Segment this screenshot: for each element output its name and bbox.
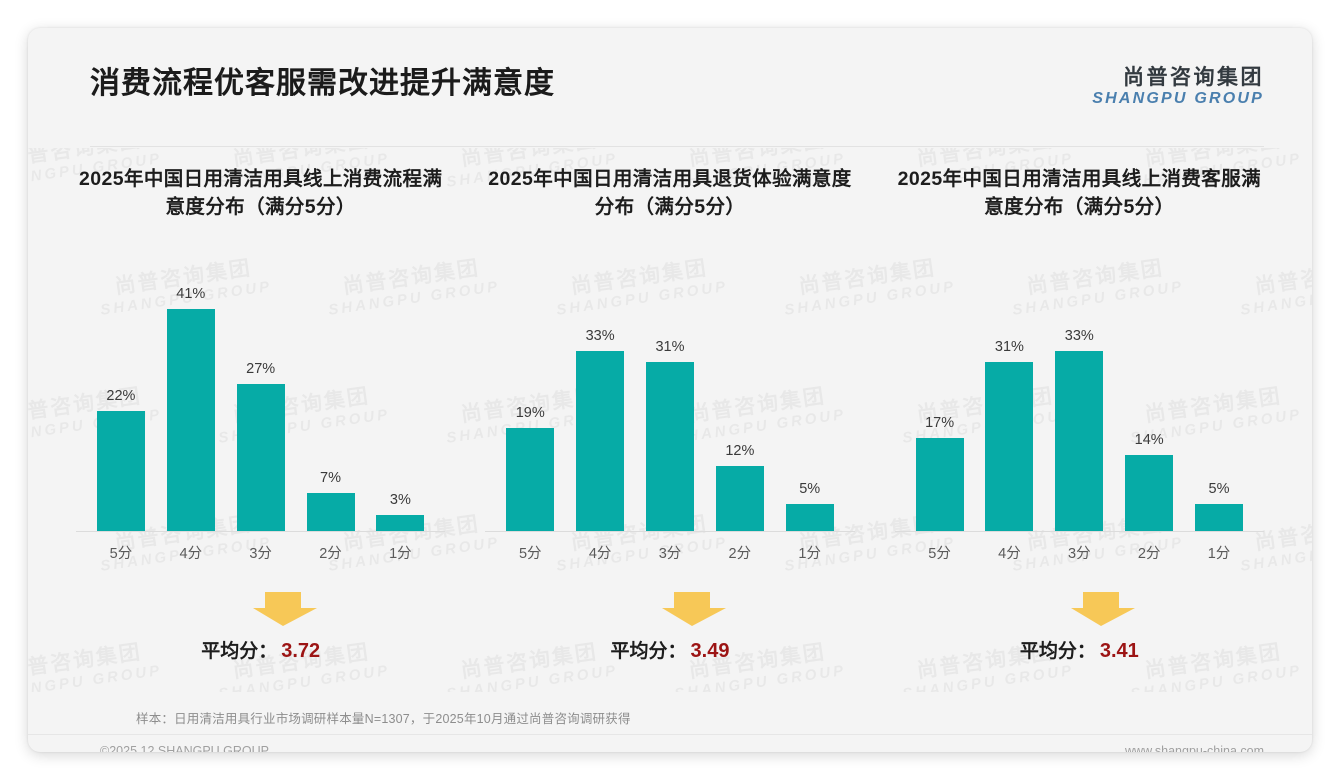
- bar-slot[interactable]: 19%: [495, 286, 565, 531]
- chart-panel: 2025年中国日用清洁用具退货体验满意度分布（满分5分）19%33%31%12%…: [465, 166, 874, 676]
- average-value: 3.72: [281, 640, 320, 663]
- bar-value-label: 14%: [1135, 432, 1164, 448]
- bar[interactable]: [916, 438, 964, 531]
- average-score-label: 平均分：3.49: [611, 636, 730, 663]
- bar-slot[interactable]: 3%: [365, 286, 435, 531]
- x-axis-labels: 5分4分3分2分1分: [495, 542, 844, 563]
- chart-plot-area: 19%33%31%12%5%5分4分3分2分1分: [477, 286, 862, 531]
- page-title: 消费流程优客服需改进提升满意度: [90, 58, 555, 102]
- average-score-block: 平均分：3.49: [465, 592, 874, 663]
- average-prefix: 平均分：: [611, 636, 687, 663]
- x-axis-tick-label: 3分: [635, 542, 705, 563]
- x-axis-tick-label: 4分: [565, 542, 635, 563]
- bar-value-label: 3%: [390, 492, 411, 508]
- chart-title: 2025年中国日用清洁用具线上消费客服满意度分布（满分5分）: [887, 166, 1272, 228]
- bar[interactable]: [576, 351, 624, 531]
- bar-value-label: 31%: [655, 339, 684, 355]
- bar-value-label: 19%: [516, 405, 545, 421]
- average-score-block: 平均分：3.72: [56, 592, 465, 663]
- bar[interactable]: [376, 515, 424, 531]
- chart-plot-area: 17%31%33%14%5%5分4分3分2分1分: [887, 286, 1272, 531]
- bar-slot[interactable]: 12%: [705, 286, 775, 531]
- average-prefix: 平均分：: [201, 636, 277, 663]
- bar-slot[interactable]: 14%: [1114, 286, 1184, 531]
- slide-card: 尚普咨询集团SHANGPU GROUP尚普咨询集团SHANGPU GROUP尚普…: [28, 28, 1312, 752]
- chart-panel: 2025年中国日用清洁用具线上消费流程满意度分布（满分5分）22%41%27%7…: [56, 166, 465, 676]
- x-axis-labels: 5分4分3分2分1分: [905, 542, 1254, 563]
- bar[interactable]: [985, 362, 1033, 531]
- bar-slot[interactable]: 33%: [1044, 286, 1114, 531]
- x-axis-tick-label: 4分: [156, 542, 226, 563]
- bar-group: 22%41%27%7%3%: [86, 286, 435, 531]
- x-axis-tick-label: 2分: [1114, 542, 1184, 563]
- down-arrow-icon: [1067, 592, 1139, 626]
- bar-value-label: 5%: [1209, 481, 1230, 497]
- bar-value-label: 31%: [995, 339, 1024, 355]
- bar-slot[interactable]: 17%: [905, 286, 975, 531]
- chart-title: 2025年中国日用清洁用具线上消费流程满意度分布（满分5分）: [68, 166, 453, 228]
- footer-website[interactable]: www.shangpu-china.com: [1125, 744, 1264, 752]
- x-axis-tick-label: 4分: [975, 542, 1045, 563]
- x-axis-line: [895, 531, 1264, 532]
- bar-group: 19%33%31%12%5%: [495, 286, 844, 531]
- bar[interactable]: [716, 466, 764, 531]
- header-divider: [90, 146, 1264, 147]
- bar-slot[interactable]: 22%: [86, 286, 156, 531]
- bar-value-label: 41%: [176, 286, 205, 302]
- bar-value-label: 12%: [725, 443, 754, 459]
- chart-panel: 2025年中国日用清洁用具线上消费客服满意度分布（满分5分）17%31%33%1…: [875, 166, 1284, 676]
- brand-logo: 尚普咨询集团 SHANGPU GROUP: [1092, 66, 1264, 107]
- average-score-label: 平均分：3.72: [201, 636, 320, 663]
- average-score-block: 平均分：3.41: [875, 592, 1284, 663]
- x-axis-tick-label: 1分: [1184, 542, 1254, 563]
- x-axis-tick-label: 5分: [905, 542, 975, 563]
- x-axis-tick-label: 5分: [495, 542, 565, 563]
- x-axis-tick-label: 1分: [775, 542, 845, 563]
- average-value: 3.41: [1100, 640, 1139, 663]
- average-prefix: 平均分：: [1020, 636, 1096, 663]
- bar-slot[interactable]: 33%: [565, 286, 635, 531]
- average-score-label: 平均分：3.41: [1020, 636, 1139, 663]
- slide-header: 消费流程优客服需改进提升满意度 尚普咨询集团 SHANGPU GROUP: [28, 28, 1312, 128]
- x-axis-tick-label: 2分: [705, 542, 775, 563]
- bar[interactable]: [1195, 504, 1243, 531]
- x-axis-tick-label: 1分: [365, 542, 435, 563]
- bar-slot[interactable]: 5%: [1184, 286, 1254, 531]
- average-value: 3.49: [691, 640, 730, 663]
- bar-value-label: 17%: [925, 415, 954, 431]
- bar-group: 17%31%33%14%5%: [905, 286, 1254, 531]
- bar[interactable]: [786, 504, 834, 531]
- bar-slot[interactable]: 7%: [296, 286, 366, 531]
- bar[interactable]: [167, 309, 215, 531]
- charts-row: 2025年中国日用清洁用具线上消费流程满意度分布（满分5分）22%41%27%7…: [56, 166, 1284, 676]
- bar[interactable]: [237, 384, 285, 531]
- footer-copyright: ©2025.12 SHANGPU GROUP: [100, 744, 269, 752]
- bar-slot[interactable]: 5%: [775, 286, 845, 531]
- logo-chinese-text: 尚普咨询集团: [1092, 66, 1264, 90]
- bar[interactable]: [506, 428, 554, 531]
- down-arrow-icon: [249, 592, 321, 626]
- bar-value-label: 5%: [799, 481, 820, 497]
- x-axis-tick-label: 3分: [226, 542, 296, 563]
- bar-slot[interactable]: 31%: [975, 286, 1045, 531]
- logo-english-text: SHANGPU GROUP: [1092, 90, 1264, 108]
- sample-footnote: 样本：日用清洁用具行业市场调研样本量N=1307，于2025年10月通过尚普咨询…: [136, 708, 631, 727]
- bar[interactable]: [1125, 455, 1173, 531]
- down-arrow-icon: [658, 592, 730, 626]
- x-axis-labels: 5分4分3分2分1分: [86, 542, 435, 563]
- bar-slot[interactable]: 41%: [156, 286, 226, 531]
- bar-value-label: 7%: [320, 470, 341, 486]
- bar[interactable]: [97, 411, 145, 531]
- x-axis-tick-label: 2分: [296, 542, 366, 563]
- bar-value-label: 22%: [106, 388, 135, 404]
- footer-divider: [28, 734, 1312, 735]
- bar-value-label: 33%: [586, 328, 615, 344]
- x-axis-line: [485, 531, 854, 532]
- bar[interactable]: [1055, 351, 1103, 531]
- chart-title: 2025年中国日用清洁用具退货体验满意度分布（满分5分）: [477, 166, 862, 228]
- bar[interactable]: [646, 362, 694, 531]
- chart-plot-area: 22%41%27%7%3%5分4分3分2分1分: [68, 286, 453, 531]
- x-axis-tick-label: 5分: [86, 542, 156, 563]
- x-axis-tick-label: 3分: [1044, 542, 1114, 563]
- bar-value-label: 27%: [246, 361, 275, 377]
- bar-slot[interactable]: 31%: [635, 286, 705, 531]
- x-axis-line: [76, 531, 445, 532]
- bar[interactable]: [307, 493, 355, 531]
- bar-value-label: 33%: [1065, 328, 1094, 344]
- bar-slot[interactable]: 27%: [226, 286, 296, 531]
